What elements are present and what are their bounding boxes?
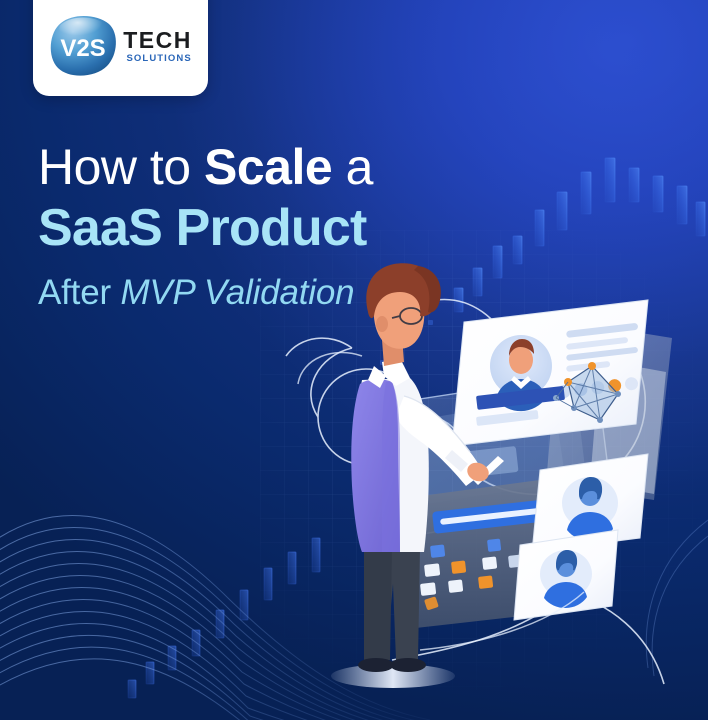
hero-illustration — [0, 0, 708, 720]
primary-profile-card[interactable] — [452, 300, 648, 446]
card-avatar-person — [540, 550, 592, 608]
promotional-banner: V2S TECH SOLUTIONS How to Scale a SaaS P… — [0, 0, 708, 720]
